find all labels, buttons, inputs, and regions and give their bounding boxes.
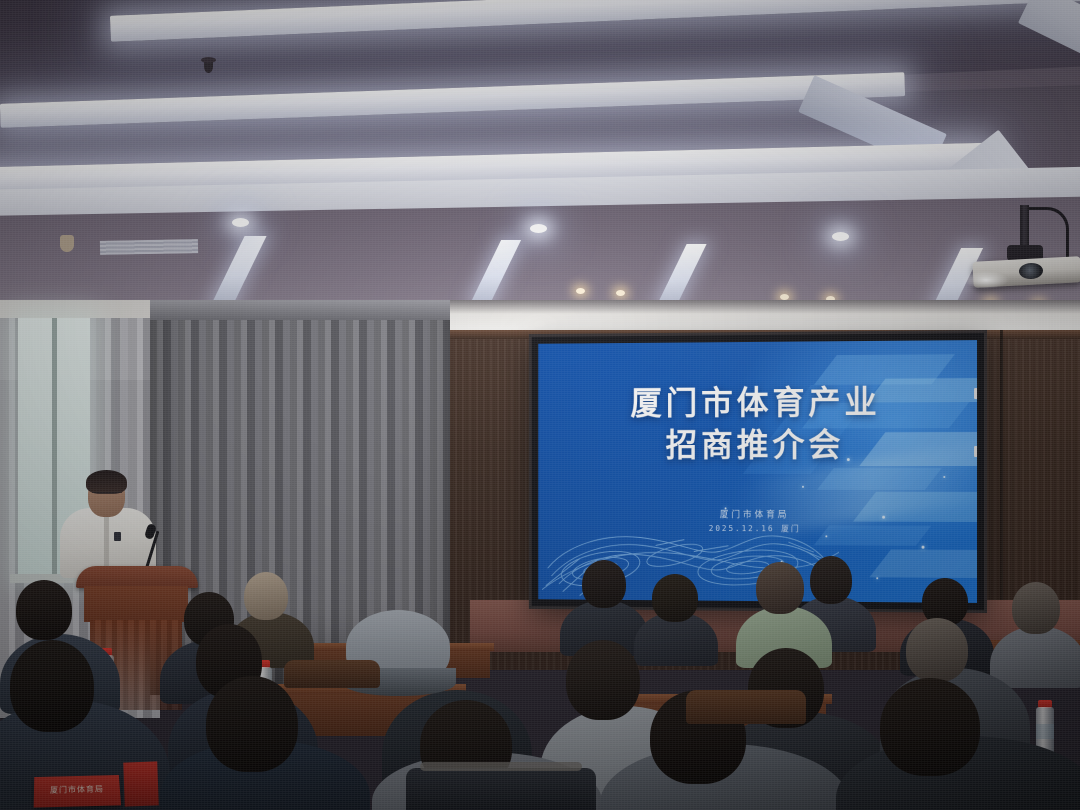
chair-back	[284, 660, 380, 688]
audience-person-head	[652, 574, 698, 622]
downlight-small-1	[576, 288, 585, 294]
ceiling-projector	[985, 205, 1080, 297]
wall-speaker-icon	[60, 235, 74, 252]
name-card-secondary	[123, 761, 159, 806]
air-vent-grille	[100, 239, 198, 255]
audience-person-head	[880, 678, 980, 776]
projector-indicator-glow	[963, 271, 1009, 289]
screen-bezel-button-1[interactable]	[974, 388, 981, 399]
downlight-2	[530, 224, 547, 233]
curtain-track	[150, 300, 450, 320]
slide-title: 厦门市体育产业 招商推介会	[538, 380, 977, 466]
downlight-small-2	[616, 290, 625, 296]
podium-front	[84, 586, 188, 622]
downlight-1	[232, 218, 249, 227]
slide-sparkle	[876, 577, 878, 579]
audience-person-head	[244, 572, 288, 620]
audience-person-head	[206, 676, 298, 772]
chair-back	[406, 768, 596, 810]
slide-date-location: 2025.12.16 厦门	[538, 522, 977, 534]
slide-title-line2: 招商推介会	[538, 423, 977, 466]
slide-sparkle	[922, 546, 925, 549]
bottle-label	[1036, 724, 1054, 740]
downlight-3	[832, 232, 849, 241]
audience-person-head	[810, 556, 852, 604]
screen-bezel-button-2[interactable]	[974, 446, 981, 457]
speaker-hair	[86, 470, 127, 494]
conference-photo: 厦门市体育产业 招商推介会 厦门市体育局 2025.12.16 厦门	[0, 0, 1080, 810]
audience-person-head	[582, 560, 626, 608]
slide-sparkle	[802, 486, 804, 488]
podium-top	[76, 566, 198, 588]
chair-rail	[420, 762, 582, 771]
audience-person-head	[566, 640, 640, 720]
audience-person-head	[756, 562, 804, 614]
audience-person-head	[10, 640, 94, 732]
audience-person-head	[1012, 582, 1060, 634]
projector-pole	[1020, 205, 1029, 249]
slide-organizer: 厦门市体育局	[538, 507, 977, 521]
name-card: 厦门市体育局	[34, 775, 121, 808]
slide-sparkle	[943, 476, 945, 478]
audience-person-head	[906, 618, 968, 682]
slide-ribbon-8	[869, 550, 977, 578]
audience-person-head	[16, 580, 72, 640]
name-card-text: 厦门市体育局	[38, 783, 116, 795]
sprinkler-head-icon	[204, 60, 213, 73]
chair-back	[686, 690, 806, 724]
ceiling	[0, 0, 1080, 330]
slide-title-line1: 厦门市体育产业	[538, 380, 977, 424]
speaker-glasses-icon	[92, 492, 122, 498]
speaker-badge	[114, 532, 121, 541]
window-mullion	[52, 318, 57, 578]
